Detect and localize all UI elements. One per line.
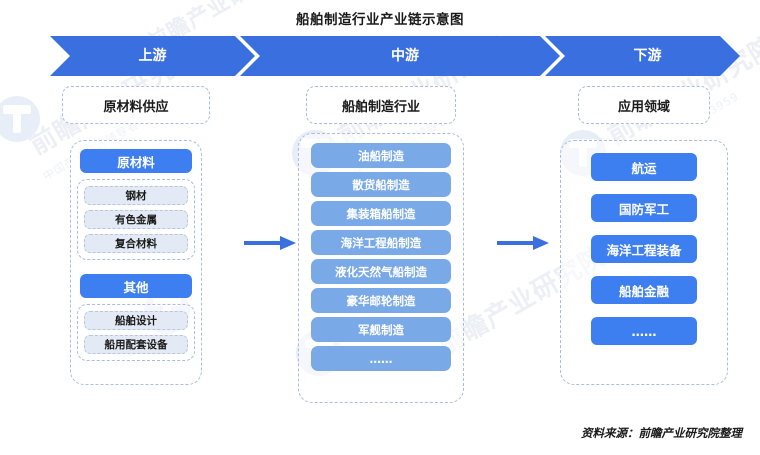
column-header-upstream: 原材料供应 [62, 86, 210, 124]
list-item[interactable]: 集装箱船制造 [311, 201, 451, 226]
value-chain-band: 上游 中游 下游 [50, 36, 740, 76]
list-item[interactable]: 船舶金融 [591, 276, 697, 304]
column-body-upstream: 原材料 钢材 有色金属 复合材料 其他 船舶设计 船用配套设备 [70, 140, 202, 385]
arrow-midstream-to-downstream [497, 234, 549, 256]
page-title: 船舶制造行业产业链示意图 [0, 8, 760, 28]
arrow-right-icon [497, 234, 549, 252]
band-label-midstream: 中游 [250, 36, 560, 76]
column-upstream: 原材料供应 [62, 86, 210, 124]
column-header-midstream: 船舶制造行业 [306, 86, 456, 124]
watermark-logo [0, 96, 40, 142]
list-item[interactable]: 海洋工程装备 [591, 235, 697, 263]
arrow-upstream-to-midstream [244, 234, 296, 256]
list-item[interactable]: 军舰制造 [311, 317, 451, 342]
arrow-right-icon [244, 234, 296, 252]
list-item[interactable]: 航运 [591, 153, 697, 181]
list-item[interactable]: 豪华邮轮制造 [311, 288, 451, 313]
subgroup-raw-materials: 钢材 有色金属 复合材料 [77, 179, 195, 260]
list-item[interactable]: …… [591, 317, 697, 345]
band-label-upstream: 上游 [50, 36, 255, 76]
list-item[interactable]: 液化天然气船制造 [311, 259, 451, 284]
subgroup-other: 船舶设计 船用配套设备 [77, 304, 195, 361]
list-item[interactable]: 船舶设计 [84, 311, 188, 330]
column-body-downstream: 航运 国防军工 海洋工程装备 船舶金融 …… [560, 140, 728, 385]
list-item[interactable]: 散货船制造 [311, 172, 451, 197]
column-body-midstream: 油船制造 散货船制造 集装箱船制造 海洋工程船制造 液化天然气船制造 豪华邮轮制… [298, 133, 464, 403]
list-item[interactable]: 有色金属 [84, 210, 188, 229]
band-label-downstream: 下游 [555, 36, 740, 76]
group-title-other[interactable]: 其他 [80, 274, 192, 298]
list-item[interactable]: …… [311, 346, 451, 371]
list-item[interactable]: 海洋工程船制造 [311, 230, 451, 255]
group-title-raw-materials[interactable]: 原材料 [80, 149, 192, 173]
chart-canvas: 前瞻产业研究院 前瞻产业研究院 前瞻产业研究院 前瞻产业研究院 前瞻产业研究院 … [0, 0, 760, 455]
column-header-downstream: 应用领域 [578, 86, 710, 124]
list-item[interactable]: 钢材 [84, 186, 188, 205]
source-note: 资料来源：前瞻产业研究院整理 [581, 425, 742, 441]
list-item[interactable]: 复合材料 [84, 234, 188, 253]
list-item[interactable]: 船用配套设备 [84, 335, 188, 354]
list-item[interactable]: 国防军工 [591, 194, 697, 222]
column-downstream: 应用领域 [578, 86, 710, 124]
list-item[interactable]: 油船制造 [311, 143, 451, 168]
column-midstream: 船舶制造行业 [306, 86, 456, 124]
